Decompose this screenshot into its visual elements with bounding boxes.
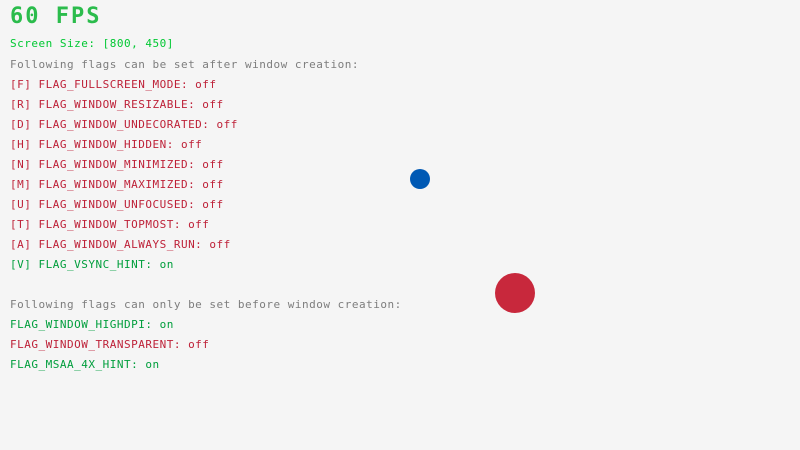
flag-row-window-unfocused[interactable]: [U] FLAG_WINDOW_UNFOCUSED: off <box>10 199 238 219</box>
flag-row-msaa-4x-hint: FLAG_MSAA_4X_HINT: on <box>10 359 209 379</box>
flag-row-window-maximized[interactable]: [M] FLAG_WINDOW_MAXIMIZED: off <box>10 179 238 199</box>
flag-row-window-transparent: FLAG_WINDOW_TRANSPARENT: off <box>10 339 209 359</box>
flag-row-window-always-run[interactable]: [A] FLAG_WINDOW_ALWAYS_RUN: off <box>10 239 238 259</box>
raylib-window: 60 FPS Screen Size: [800, 450] Following… <box>0 0 800 450</box>
blue-circle-shape <box>410 169 430 189</box>
fps-counter: 60 FPS <box>10 6 101 28</box>
flag-row-window-topmost[interactable]: [T] FLAG_WINDOW_TOPMOST: off <box>10 219 238 239</box>
flag-row-window-undecorated[interactable]: [D] FLAG_WINDOW_UNDECORATED: off <box>10 119 238 139</box>
screen-size-label: Screen Size: [800, 450] <box>10 38 174 49</box>
flag-row-fullscreen-mode[interactable]: [F] FLAG_FULLSCREEN_MODE: off <box>10 79 238 99</box>
runtime-flags-header: Following flags can be set after window … <box>10 59 359 70</box>
flag-row-window-hidden[interactable]: [H] FLAG_WINDOW_HIDDEN: off <box>10 139 238 159</box>
creation-flags-list: FLAG_WINDOW_HIGHDPI: on FLAG_WINDOW_TRAN… <box>10 319 209 379</box>
creation-flags-header: Following flags can only be set before w… <box>10 299 402 310</box>
flag-row-vsync-hint[interactable]: [V] FLAG_VSYNC_HINT: on <box>10 259 238 279</box>
runtime-flags-list: [F] FLAG_FULLSCREEN_MODE: off [R] FLAG_W… <box>10 79 238 279</box>
red-circle-shape <box>495 273 535 313</box>
flag-row-window-resizable[interactable]: [R] FLAG_WINDOW_RESIZABLE: off <box>10 99 238 119</box>
flag-row-window-minimized[interactable]: [N] FLAG_WINDOW_MINIMIZED: off <box>10 159 238 179</box>
flag-row-window-highdpi: FLAG_WINDOW_HIGHDPI: on <box>10 319 209 339</box>
